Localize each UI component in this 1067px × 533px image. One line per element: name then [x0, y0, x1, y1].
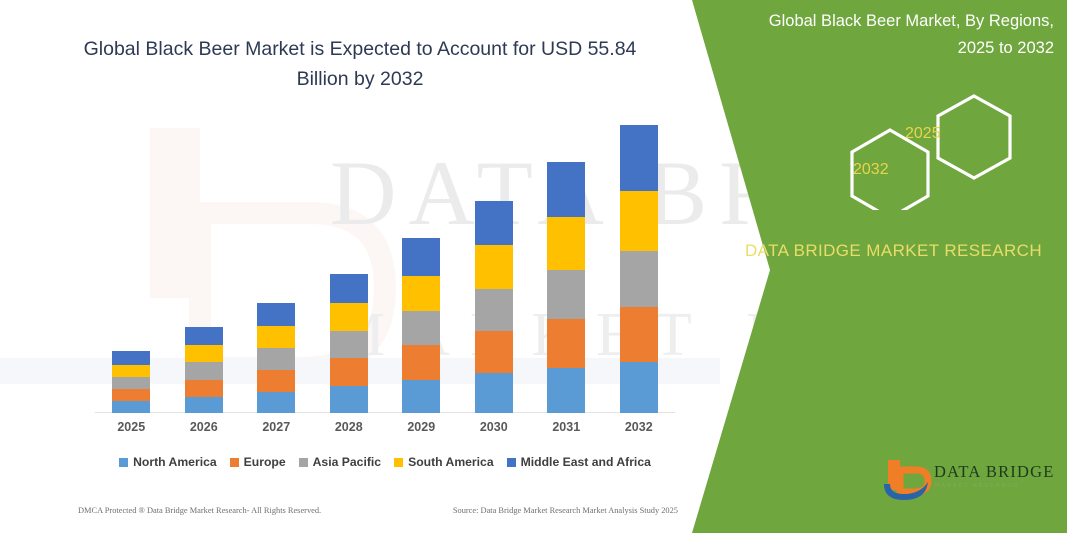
stacked-bar[interactable]	[185, 327, 223, 413]
stacked-bar[interactable]	[257, 303, 295, 413]
bar-segment	[402, 276, 440, 311]
bar-group	[386, 238, 456, 413]
bar-segment	[475, 373, 513, 413]
bar-segment	[257, 392, 295, 413]
bar-segment	[185, 345, 223, 362]
bar-segment	[620, 307, 658, 363]
hexagon-2032-label: 2032	[853, 161, 889, 179]
bar-segment	[547, 217, 585, 270]
bar-segment	[185, 397, 223, 413]
bar-segment	[547, 270, 585, 320]
bar-segment	[620, 251, 658, 307]
stacked-bar[interactable]	[475, 201, 513, 413]
bar-segment	[620, 191, 658, 252]
x-axis-label: 2026	[169, 420, 239, 434]
bar-segment	[112, 377, 150, 389]
stacked-bar[interactable]	[620, 125, 658, 413]
bar-segment	[402, 311, 440, 345]
legend-label: North America	[133, 455, 217, 469]
legend-swatch-icon	[507, 458, 516, 467]
hexagon-group	[824, 92, 1067, 210]
legend-label: South America	[408, 455, 494, 469]
stacked-bar[interactable]	[402, 238, 440, 413]
stacked-bar[interactable]	[330, 274, 368, 413]
x-axis-label: 2032	[604, 420, 674, 434]
side-panel: Global Black Beer Market, By Regions, 20…	[720, 0, 1067, 533]
legend-item[interactable]: South America	[394, 455, 494, 469]
bar-segment	[330, 386, 368, 413]
bar-group	[169, 327, 239, 413]
bar-segment	[257, 303, 295, 326]
bar-segment	[330, 274, 368, 303]
bar-segment	[475, 331, 513, 372]
x-axis-label: 2025	[96, 420, 166, 434]
bar-segment	[402, 238, 440, 275]
x-axis-label: 2027	[241, 420, 311, 434]
hexagon-2025	[938, 96, 1010, 178]
bar-group	[459, 201, 529, 413]
bar-segment	[185, 362, 223, 379]
bar-segment	[112, 351, 150, 364]
chart-panel: Global Black Beer Market is Expected to …	[0, 0, 720, 533]
bar-segment	[257, 326, 295, 348]
bar-segment	[402, 380, 440, 413]
bar-segment	[257, 370, 295, 392]
bar-segment	[257, 348, 295, 369]
bar-segment	[330, 303, 368, 331]
x-axis-label: 2028	[314, 420, 384, 434]
bar-group	[314, 274, 384, 413]
side-panel-title: Global Black Beer Market, By Regions, 20…	[736, 8, 1054, 62]
logo-tagline: MARKET RESEARCH	[935, 483, 1019, 489]
stacked-bar-chart	[95, 125, 675, 413]
bar-segment	[620, 362, 658, 413]
page-title: Global Black Beer Market is Expected to …	[60, 34, 660, 94]
legend-item[interactable]: North America	[119, 455, 217, 469]
bar-group	[604, 125, 674, 413]
bar-segment	[475, 245, 513, 288]
bar-segment	[112, 401, 150, 413]
bar-segment	[547, 162, 585, 217]
footer: DMCA Protected ® Data Bridge Market Rese…	[78, 506, 678, 515]
bar-segment	[402, 345, 440, 379]
x-axis-label: 2030	[459, 420, 529, 434]
bar-group	[96, 351, 166, 413]
legend-item[interactable]: Middle East and Africa	[507, 455, 651, 469]
hexagon-2025-label: 2025	[905, 125, 941, 143]
legend-item[interactable]: Europe	[230, 455, 286, 469]
x-axis-label: 2029	[386, 420, 456, 434]
stacked-bar[interactable]	[112, 351, 150, 413]
company-logo: DATA BRIDGE MARKET RESEARCH	[880, 456, 1060, 506]
bar-segment	[112, 365, 150, 377]
bar-segment	[185, 380, 223, 397]
footer-copyright: DMCA Protected ® Data Bridge Market Rese…	[78, 506, 321, 515]
bar-segment	[185, 327, 223, 345]
bar-segment	[547, 319, 585, 368]
bar-group	[241, 303, 311, 413]
infographic-canvas: DATA BRIDGE MARKET RESEARCH Global Black…	[0, 0, 1067, 533]
legend-swatch-icon	[119, 458, 128, 467]
legend-label: Europe	[244, 455, 286, 469]
hexagon-outlines	[824, 92, 1067, 210]
x-axis-labels: 20252026202720282029203020312032	[95, 420, 675, 442]
chart-legend: North AmericaEuropeAsia PacificSouth Ame…	[95, 455, 675, 469]
bar-segment	[330, 331, 368, 358]
bar-segment	[330, 358, 368, 385]
footer-source: Source: Data Bridge Market Research Mark…	[453, 506, 678, 515]
x-axis-label: 2031	[531, 420, 601, 434]
legend-item[interactable]: Asia Pacific	[299, 455, 381, 469]
legend-label: Middle East and Africa	[521, 455, 651, 469]
legend-swatch-icon	[230, 458, 239, 467]
legend-swatch-icon	[394, 458, 403, 467]
logo-company-name: DATA BRIDGE	[934, 462, 1055, 482]
bar-segment	[475, 289, 513, 331]
bar-segment	[620, 125, 658, 191]
bar-segment	[547, 368, 585, 413]
legend-label: Asia Pacific	[313, 455, 381, 469]
bar-segment	[475, 201, 513, 245]
bar-segment	[112, 389, 150, 401]
legend-swatch-icon	[299, 458, 308, 467]
bar-group	[531, 162, 601, 413]
stacked-bar[interactable]	[547, 162, 585, 413]
brand-name: DATA BRIDGE MARKET RESEARCH	[740, 238, 1047, 264]
